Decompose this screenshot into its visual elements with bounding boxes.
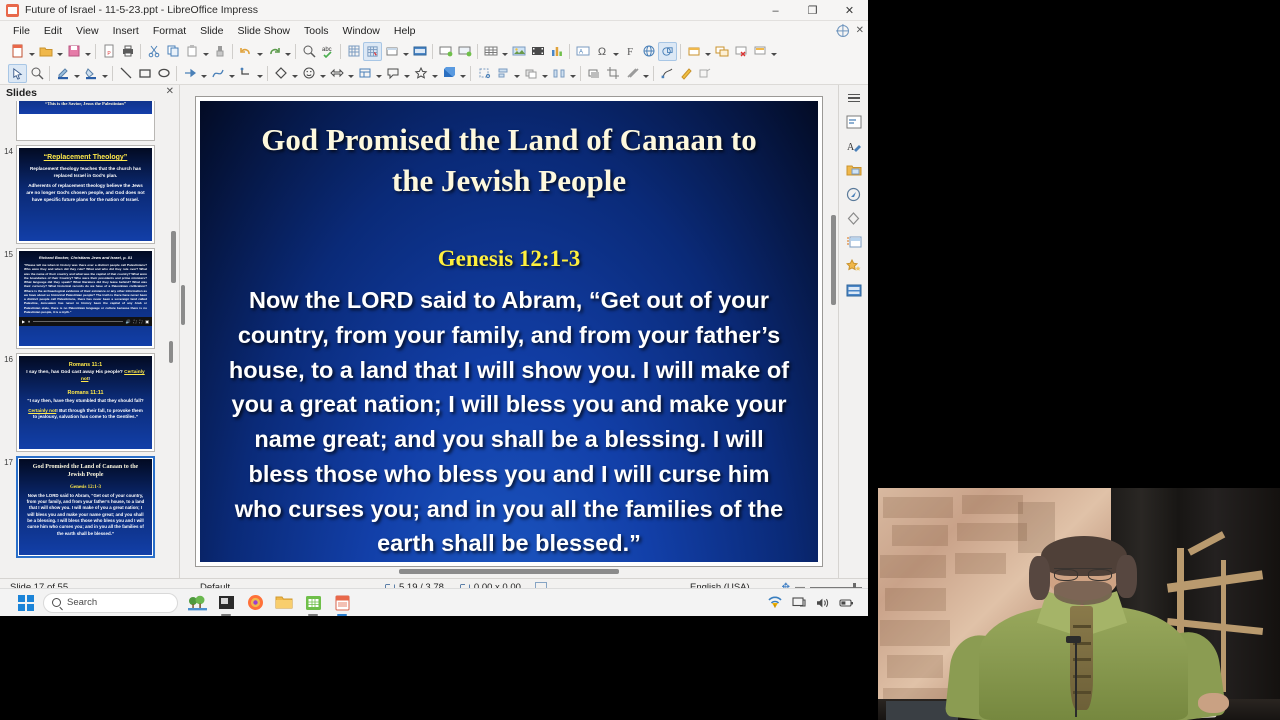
rectangle-icon[interactable]: [135, 64, 154, 83]
shadow-icon[interactable]: [584, 64, 603, 83]
thumbnail-paragraph: Adherents of replacement theology believ…: [26, 183, 145, 203]
panel-resize-handle[interactable]: [181, 285, 185, 325]
properties-icon[interactable]: [843, 112, 865, 132]
hyperlink-icon[interactable]: [639, 42, 658, 61]
thumbnail-reference: Romans 11:11: [26, 390, 145, 396]
fontwork-icon[interactable]: F: [620, 42, 639, 61]
block-arrows-icon[interactable]: [327, 64, 346, 83]
window-controls: – ❐ ✕: [757, 0, 868, 21]
toolbar-separator: [140, 44, 141, 59]
slide-editing-area[interactable]: God Promised the Land of Canaan to the J…: [180, 85, 838, 578]
slide-thumbnail-list[interactable]: Bible Prophecy Opposes Second Coming Mor…: [0, 101, 179, 578]
flowchart-icon[interactable]: [355, 64, 374, 83]
main-content-area: Slides ✕ Bible Prophecy Opposes Second C…: [0, 85, 868, 578]
find-replace-icon[interactable]: [299, 42, 318, 61]
filter-dropdown-icon[interactable]: [641, 64, 650, 83]
menu-item-help[interactable]: Help: [387, 23, 423, 39]
hair-side-left: [1029, 556, 1050, 599]
taskbar-app-explorer-dark[interactable]: [216, 593, 236, 613]
ellipse-icon[interactable]: [154, 64, 173, 83]
slide-surface[interactable]: God Promised the Land of Canaan to the J…: [200, 101, 818, 562]
toolbar-separator: [267, 66, 268, 81]
maximize-button[interactable]: ❐: [794, 0, 831, 21]
redo-icon[interactable]: [264, 42, 283, 61]
eyeglasses: [1054, 568, 1113, 576]
callout-dropdown-icon[interactable]: [402, 64, 411, 83]
battery-icon[interactable]: [839, 596, 854, 609]
thumbnail-paragraph: Replacement theology teaches that the ch…: [26, 166, 145, 179]
align-objects-icon[interactable]: [493, 64, 512, 83]
app-running-indicator: [308, 614, 318, 616]
curve-dropdown-icon[interactable]: [227, 64, 236, 83]
menu-bar: File Edit View Insert Format Slide Slide…: [0, 21, 868, 40]
insert-text-box-icon[interactable]: A: [573, 42, 592, 61]
new-document-dropdown-icon[interactable]: [27, 42, 36, 61]
window-title: Future of Israel - 11-5-23.ppt - LibreOf…: [25, 4, 258, 16]
search-icon: [52, 598, 61, 607]
arrange-dropdown-icon[interactable]: [540, 64, 549, 83]
standard-toolbar: P: [0, 40, 868, 62]
toolbar-separator: [95, 44, 96, 59]
table-icon[interactable]: [481, 42, 500, 61]
network-warning-icon[interactable]: !: [767, 596, 782, 609]
master-slide-icon[interactable]: [410, 42, 429, 61]
taskbar-app-file-explorer[interactable]: [274, 593, 294, 613]
display-icon[interactable]: [791, 596, 806, 609]
clone-formatting-icon[interactable]: [210, 42, 229, 61]
arrow-dropdown-icon[interactable]: [199, 64, 208, 83]
rotate-icon[interactable]: [474, 64, 493, 83]
block-arrows-dropdown-icon[interactable]: [346, 64, 355, 83]
close-icon[interactable]: ✕: [166, 86, 174, 97]
stars-icon[interactable]: [411, 64, 430, 83]
slide-thumbnail-active[interactable]: God Promised the Land of Canaan to the J…: [16, 456, 155, 558]
redo-dropdown-icon[interactable]: [283, 42, 292, 61]
line-color-dropdown-icon[interactable]: [72, 64, 81, 83]
toolbar-separator: [432, 44, 433, 59]
sidebar-settings-icon[interactable]: [843, 88, 865, 108]
fill-color-dropdown-icon[interactable]: [100, 64, 109, 83]
shapes-icon[interactable]: [843, 208, 865, 228]
thumbnail-line: “I say then, have they stumbled that the…: [26, 398, 145, 404]
microphone-head: [1066, 636, 1081, 643]
arrange-icon[interactable]: [521, 64, 540, 83]
slide-panel-header: Slides ✕: [0, 85, 179, 101]
open-file-icon[interactable]: [36, 42, 55, 61]
slide-panel-title: Slides: [6, 87, 37, 99]
toolbar-separator: [340, 44, 341, 59]
slide-thumbnail[interactable]: Bible Prophecy Opposes Second Coming Mor…: [16, 101, 155, 141]
basic-shapes-dropdown-icon[interactable]: [290, 64, 299, 83]
slide-thumbnail[interactable]: Romans 11:1 I say then, has God cast awa…: [16, 353, 155, 452]
taskbar-items: Search: [0, 593, 352, 613]
slide-thumbnail[interactable]: “Replacement Theology” Replacement theol…: [16, 145, 155, 244]
slide-body-text[interactable]: Now the LORD said to Abram, “Get out of …: [225, 283, 794, 561]
connector-dropdown-icon[interactable]: [255, 64, 264, 83]
3d-objects-dropdown-icon[interactable]: [458, 64, 467, 83]
presenter: [979, 553, 1188, 720]
slide-canvas[interactable]: God Promised the Land of Canaan to the J…: [195, 96, 823, 567]
sidebar: A: [838, 85, 868, 578]
crop-icon[interactable]: [603, 64, 622, 83]
thumbnail-title: God Promised the Land of Canaan to the J…: [25, 464, 146, 480]
taskbar-app-trees[interactable]: [187, 593, 207, 613]
title-bar: Future of Israel - 11-5-23.ppt - LibreOf…: [0, 0, 868, 21]
spelling-icon[interactable]: abc: [318, 42, 337, 61]
start-from-first-slide-icon[interactable]: [436, 42, 455, 61]
symbol-shapes-icon[interactable]: [299, 64, 318, 83]
close-button[interactable]: ✕: [831, 0, 868, 21]
zoom-icon[interactable]: [27, 64, 46, 83]
fill-color-icon[interactable]: [81, 64, 100, 83]
new-slide-icon[interactable]: [684, 42, 703, 61]
hand: [1198, 693, 1229, 713]
svg-text:A: A: [579, 50, 583, 56]
close-document-icon[interactable]: ✕: [856, 25, 864, 36]
filter-icon[interactable]: [622, 64, 641, 83]
slide-number: 15: [2, 248, 16, 259]
menu-item-insert[interactable]: Insert: [106, 23, 146, 39]
display-views-icon[interactable]: [382, 42, 401, 61]
start-from-current-slide-icon[interactable]: [455, 42, 474, 61]
insert-media-icon[interactable]: [528, 42, 547, 61]
special-character-dropdown-icon[interactable]: [611, 42, 620, 61]
system-tray: !: [767, 596, 868, 609]
menu-item-slide-show[interactable]: Slide Show: [230, 23, 297, 39]
toolbar-separator: [176, 66, 177, 81]
toolbar-separator: [477, 44, 478, 59]
callout-shapes-icon[interactable]: [383, 64, 402, 83]
curve-icon[interactable]: [208, 64, 227, 83]
insert-chart-icon[interactable]: [547, 42, 566, 61]
slide-panel-scrollbar[interactable]: [171, 231, 176, 283]
slide-scripture-reference[interactable]: Genesis 12:1-3: [237, 246, 781, 272]
menu-item-slide[interactable]: Slide: [193, 23, 230, 39]
microphone-stand: [1075, 640, 1077, 717]
beard: [1054, 581, 1113, 604]
thumbnail-line: I say then, has God cast away His people…: [26, 370, 123, 375]
toolbar-separator: [295, 44, 296, 59]
toolbar-separator: [470, 66, 471, 81]
impress-document-icon: [6, 4, 19, 17]
3d-objects-icon[interactable]: [439, 64, 458, 83]
basic-shapes-icon[interactable]: [271, 64, 290, 83]
show-draw-functions-icon[interactable]: [658, 42, 677, 61]
paste-icon[interactable]: [182, 42, 201, 61]
svg-text:F: F: [626, 46, 632, 58]
open-file-dropdown-icon[interactable]: [55, 42, 64, 61]
video-control-bar[interactable]: ▶ ⏸ 🔊 ⛶ ⛶ ▣: [19, 317, 152, 326]
app-running-indicator: [337, 614, 347, 616]
menu-item-view[interactable]: View: [69, 23, 106, 39]
slide-layout-dropdown-icon[interactable]: [769, 42, 778, 61]
thumbnail-reference: Genesis 12:1-3: [25, 485, 146, 490]
duplicate-slide-icon[interactable]: [712, 42, 731, 61]
paste-dropdown-icon[interactable]: [201, 42, 210, 61]
taskbar-app-firefox[interactable]: [245, 593, 265, 613]
minimize-button[interactable]: –: [757, 0, 794, 21]
list-item[interactable]: 17 God Promised the Land of Canaan to th…: [2, 456, 179, 558]
flowchart-dropdown-icon[interactable]: [374, 64, 383, 83]
new-slide-dropdown-icon[interactable]: [703, 42, 712, 61]
special-character-icon[interactable]: Ω: [592, 42, 611, 61]
list-item[interactable]: 15 Richard Booker, Christians Jews and I…: [2, 248, 179, 349]
svg-text:A: A: [847, 142, 855, 153]
undo-icon[interactable]: [236, 42, 255, 61]
menu-item-format[interactable]: Format: [146, 23, 193, 39]
slide-transition-icon[interactable]: [843, 280, 865, 300]
slide-panel-scrollbar-thumb[interactable]: [169, 341, 173, 363]
toolbar-separator: [680, 44, 681, 59]
menu-item-window[interactable]: Window: [336, 23, 387, 39]
table-dropdown-icon[interactable]: [500, 42, 509, 61]
cut-icon[interactable]: [144, 42, 163, 61]
arrow-icon[interactable]: [180, 64, 199, 83]
thumbnail-title: Richard Booker, Christians Jews and Isra…: [24, 255, 147, 260]
list-item[interactable]: Bible Prophecy Opposes Second Coming Mor…: [2, 101, 179, 141]
toolbar-separator: [112, 66, 113, 81]
styles-icon[interactable]: A: [843, 136, 865, 156]
align-dropdown-icon[interactable]: [512, 64, 521, 83]
toolbar-separator: [653, 66, 654, 81]
select-icon[interactable]: [8, 64, 27, 83]
menu-item-edit[interactable]: Edit: [37, 23, 69, 39]
display-views-dropdown-icon[interactable]: [401, 42, 410, 61]
master-slides-icon[interactable]: [843, 232, 865, 252]
toolbar-separator: [580, 66, 581, 81]
line-color-icon[interactable]: [53, 64, 72, 83]
slide-panel: Slides ✕ Bible Prophecy Opposes Second C…: [0, 85, 180, 578]
export-pdf-icon[interactable]: P: [99, 42, 118, 61]
slide-title[interactable]: God Promised the Land of Canaan to the J…: [237, 120, 781, 201]
volume-icon[interactable]: [815, 596, 830, 609]
slide-layout-icon[interactable]: [750, 42, 769, 61]
app-running-indicator: [221, 614, 231, 616]
toolbar-separator: [49, 66, 50, 81]
new-document-icon[interactable]: [8, 42, 27, 61]
insert-image-icon[interactable]: [509, 42, 528, 61]
search-placeholder: Search: [67, 597, 97, 608]
copy-icon[interactable]: [163, 42, 182, 61]
save-icon[interactable]: [64, 42, 83, 61]
display-grid-icon[interactable]: [344, 42, 363, 61]
thumbnail-link: Certainly not: [28, 408, 56, 413]
insert-line-icon[interactable]: [116, 64, 135, 83]
navigator-icon[interactable]: [843, 184, 865, 204]
print-icon[interactable]: [118, 42, 137, 61]
distribute-dropdown-icon[interactable]: [568, 64, 577, 83]
list-item[interactable]: 14 “Replacement Theology” Replacement th…: [2, 145, 179, 244]
thumbnail-paragraph: “Please tell me when in history was ther…: [24, 263, 147, 314]
snap-to-grid-icon[interactable]: [363, 42, 382, 61]
speaker-video-overlay[interactable]: [878, 488, 1280, 720]
slide-thumbnail[interactable]: Richard Booker, Christians Jews and Isra…: [16, 248, 155, 349]
libreoffice-impress-window: Future of Israel - 11-5-23.ppt - LibreOf…: [0, 0, 868, 616]
taskbar-app-libreoffice-impress[interactable]: [332, 593, 352, 613]
delete-slide-icon[interactable]: [731, 42, 750, 61]
drawing-toolbar: [0, 62, 868, 85]
vertical-scrollbar[interactable]: [831, 215, 836, 305]
gallery-icon[interactable]: [843, 160, 865, 180]
distribute-icon[interactable]: [549, 64, 568, 83]
svg-text:Ω: Ω: [597, 46, 605, 58]
thumbnail-body: Now the LORD said to Abram, “Get out of …: [25, 493, 146, 538]
stars-dropdown-icon[interactable]: [430, 64, 439, 83]
thumbnail-title: “Replacement Theology”: [26, 154, 145, 161]
svg-text:!: !: [774, 603, 775, 608]
horizontal-scrollbar[interactable]: [399, 569, 619, 574]
animation-icon[interactable]: [843, 256, 865, 276]
search-input[interactable]: Search: [43, 593, 178, 613]
menu-bar-right: ✕: [837, 21, 864, 40]
slide-number: 17: [2, 456, 16, 467]
connector-icon[interactable]: [236, 64, 255, 83]
menu-item-tools[interactable]: Tools: [297, 23, 336, 39]
globe-icon[interactable]: [837, 25, 849, 37]
slide-number: 14: [2, 145, 16, 156]
toggle-extrusion-icon[interactable]: [695, 64, 714, 83]
glue-points-icon[interactable]: [676, 64, 695, 83]
slide-caption-quote: “This is the Savior, Jesus the Palestini…: [23, 101, 148, 106]
taskbar: Search: [0, 588, 868, 616]
toolbar-separator: [569, 44, 570, 59]
screen: Future of Israel - 11-5-23.ppt - LibreOf…: [0, 0, 1280, 720]
toolbar-separator: [232, 44, 233, 59]
points-icon[interactable]: [657, 64, 676, 83]
menu-item-file[interactable]: File: [6, 23, 37, 39]
hair-side-right: [1116, 555, 1137, 598]
save-dropdown-icon[interactable]: [83, 42, 92, 61]
list-item[interactable]: 16 Romans 11:1 I say then, has God cast …: [2, 353, 179, 452]
undo-dropdown-icon[interactable]: [255, 42, 264, 61]
slide-number: 16: [2, 353, 16, 364]
thumbnail-reference: Romans 11:1: [26, 362, 145, 368]
taskbar-app-libreoffice-calc[interactable]: [303, 593, 323, 613]
symbol-shapes-dropdown-icon[interactable]: [318, 64, 327, 83]
start-button[interactable]: [18, 595, 34, 611]
